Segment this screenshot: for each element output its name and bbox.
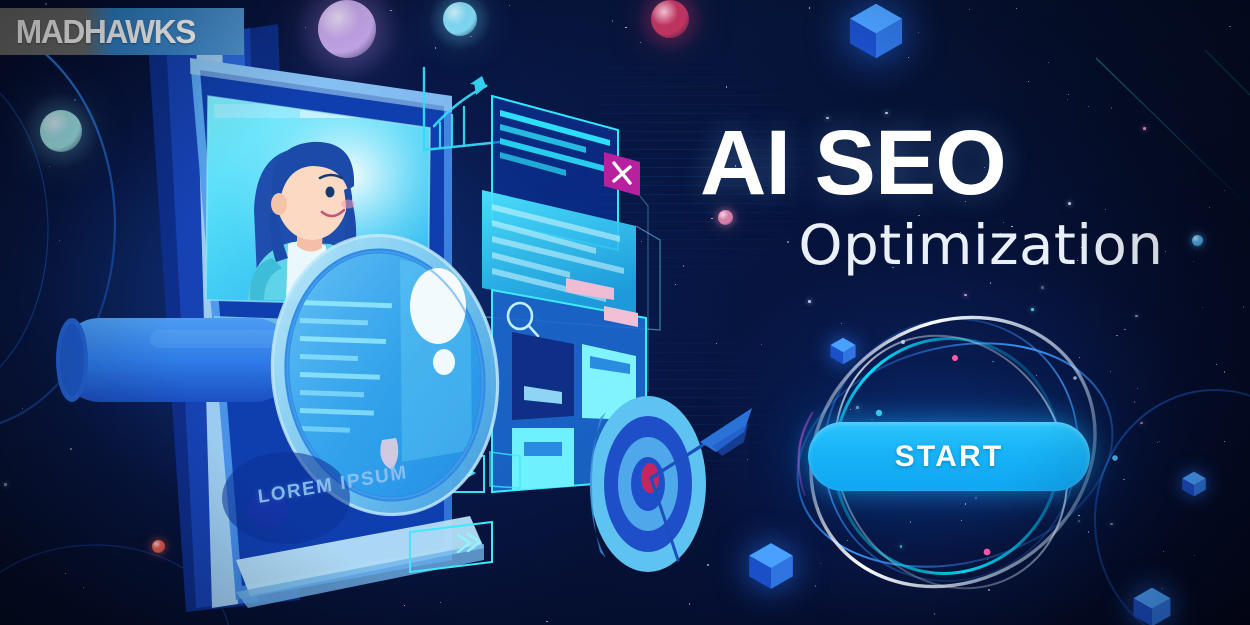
madhawks-logo[interactable]: MADHAWKS [0,8,244,55]
start-button-label: START [895,440,1004,474]
seo-illustration [0,0,760,625]
sphere-blue-right [1192,235,1203,246]
target-dartboard [590,396,752,572]
cube-far-right [1180,470,1208,498]
cube-bottom-right [1130,585,1174,625]
cta-zone: START [775,300,1135,600]
start-button[interactable]: START [808,422,1090,491]
magnifier-handle [56,318,296,402]
headline-block: AI SEO Optimization [700,118,1160,273]
cube-top-right [845,0,907,62]
page-subtitle: Optimization [798,218,1163,273]
ai-seo-banner: LOREM IPSUM MADHAWKS AI SEO Optimization [0,0,1250,625]
page-title: AI SEO [700,118,1160,208]
madhawks-logo-text: MADHAWKS [16,13,195,51]
